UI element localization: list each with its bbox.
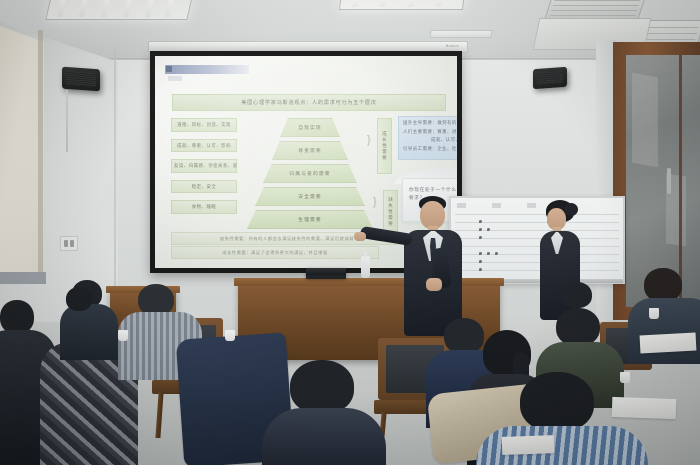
vertical-label-text: 成长性需要 — [382, 131, 388, 161]
paper-cup — [225, 330, 235, 341]
footer-text: 缺失性需要：所有的人都会去满足缺失性的需要，满足后就减弱 — [220, 236, 354, 242]
classroom-scene: Bonlux 美国心理学家马斯洛观点：人的需求可分为五个层次 道德、目标、创造、… — [0, 0, 700, 465]
speaker-grille — [537, 71, 563, 85]
pyramid-level: 归属与爱的需要 — [263, 164, 357, 183]
ceiling-light-panel — [45, 0, 193, 20]
presenter-right-hand — [426, 278, 442, 291]
maslow-pyramid: 自我实现 尊重需要 归属与爱的需要 安全需要 生理需要 — [247, 118, 371, 233]
presenter-head — [420, 201, 445, 229]
brace-upper-icon: } — [367, 134, 371, 146]
brace-lower-icon: } — [373, 196, 377, 208]
slide-heading-text: 美国心理学家马斯洛观点：人的需求可分为五个层次 — [241, 99, 376, 106]
bubble-line: 你现在处于一个什么样的 — [409, 186, 457, 194]
slide-left-label-column: 道德、目标、创造、实现 成就、尊重、认可、影响 友谊、归属感、亲密关系、爱 稳定… — [171, 118, 237, 221]
slide-left-label: 友谊、归属感、亲密关系、爱 — [171, 159, 237, 173]
blue-line: 引导员工需要：企业、社会、个人 — [403, 146, 457, 152]
blue-line: 国外主导需要：做到有的放矢 — [403, 120, 457, 126]
whiteboard-header-marks — [457, 203, 617, 209]
growth-needs-label: 成长性需要 — [377, 118, 392, 174]
speaker-grille — [66, 71, 96, 87]
laptop[interactable] — [306, 268, 346, 279]
female-presenter-bun — [564, 203, 578, 216]
ceiling-strip — [429, 30, 492, 38]
slide-left-label: 成就、尊重、认可、影响 — [171, 139, 237, 153]
roller-brand-label: Bonlux — [446, 44, 459, 48]
wall-speaker-right — [533, 67, 567, 89]
slide-left-label: 稳定、安全 — [171, 180, 237, 194]
pyramid-level-text: 归属与爱的需要 — [289, 170, 330, 177]
left-label-text: 道德、目标、创造、实现 — [174, 122, 234, 128]
pyramid-level-text: 尊重需要 — [298, 147, 322, 154]
male-presenter — [390, 196, 476, 336]
door-handle[interactable] — [667, 168, 671, 194]
slide-left-label: 食物、睡眠 — [171, 200, 237, 214]
window-sill — [0, 272, 46, 284]
speaker-cable — [66, 90, 68, 152]
footer-text: 成长性需要：满足了会得到更大的满足，并且增强 — [222, 250, 327, 256]
pyramid-level: 自我实现 — [280, 118, 340, 137]
paper-cup — [118, 330, 128, 341]
audience-member — [268, 360, 380, 465]
pyramid-level: 尊重需要 — [272, 141, 348, 160]
paper-cup — [620, 372, 630, 383]
window-frame — [38, 30, 43, 276]
pyramid-level-text: 安全需要 — [298, 193, 322, 200]
slide-heading: 美国心理学家马斯洛观点：人的需求可分为五个层次 — [172, 94, 446, 111]
wall-speaker-left — [62, 67, 100, 92]
ppt-subbar-artifact — [168, 76, 182, 81]
water-bottle — [361, 256, 370, 278]
slide-footer-line: 成长性需要：满足了会得到更大的满足，并且增强 — [171, 246, 379, 259]
ppt-titlebar-artifact — [165, 65, 249, 74]
desk-paper — [502, 435, 555, 455]
blue-line: 成就、认可、发展 — [403, 137, 457, 143]
pyramid-level: 安全需要 — [255, 187, 365, 206]
slide-left-label: 道德、目标、创造、实现 — [171, 118, 237, 132]
laptop-lid — [306, 268, 346, 275]
paper-cup — [649, 308, 659, 319]
ceiling-light-panel — [339, 0, 465, 10]
left-label-text: 友谊、归属感、亲密关系、爱 — [174, 163, 234, 169]
pyramid-level-text: 生理需要 — [298, 216, 322, 223]
left-label-text: 稳定、安全 — [174, 184, 234, 190]
left-label-text: 食物、睡眠 — [174, 204, 234, 210]
wall-outlet[interactable] — [60, 236, 78, 251]
pyramid-level: 生理需要 — [247, 210, 373, 229]
presenter-pointing-hand — [354, 232, 366, 241]
audience-member — [556, 282, 602, 326]
left-label-text: 成就、尊重、认可、影响 — [174, 143, 234, 149]
ppt-window-icon — [166, 66, 172, 72]
desk-paper — [612, 397, 677, 419]
pyramid-level-text: 自我实现 — [298, 124, 322, 131]
wall-seam — [114, 50, 116, 310]
slide-blue-callout: 国外主导需要：做到有的放矢 人们主要需要：尊重、进取、影响、 成就、认可、发展 … — [398, 116, 457, 160]
desk-paper — [640, 333, 697, 354]
audience-member — [58, 287, 104, 335]
blue-line: 人们主要需要：尊重、进取、影响、 — [403, 129, 457, 135]
